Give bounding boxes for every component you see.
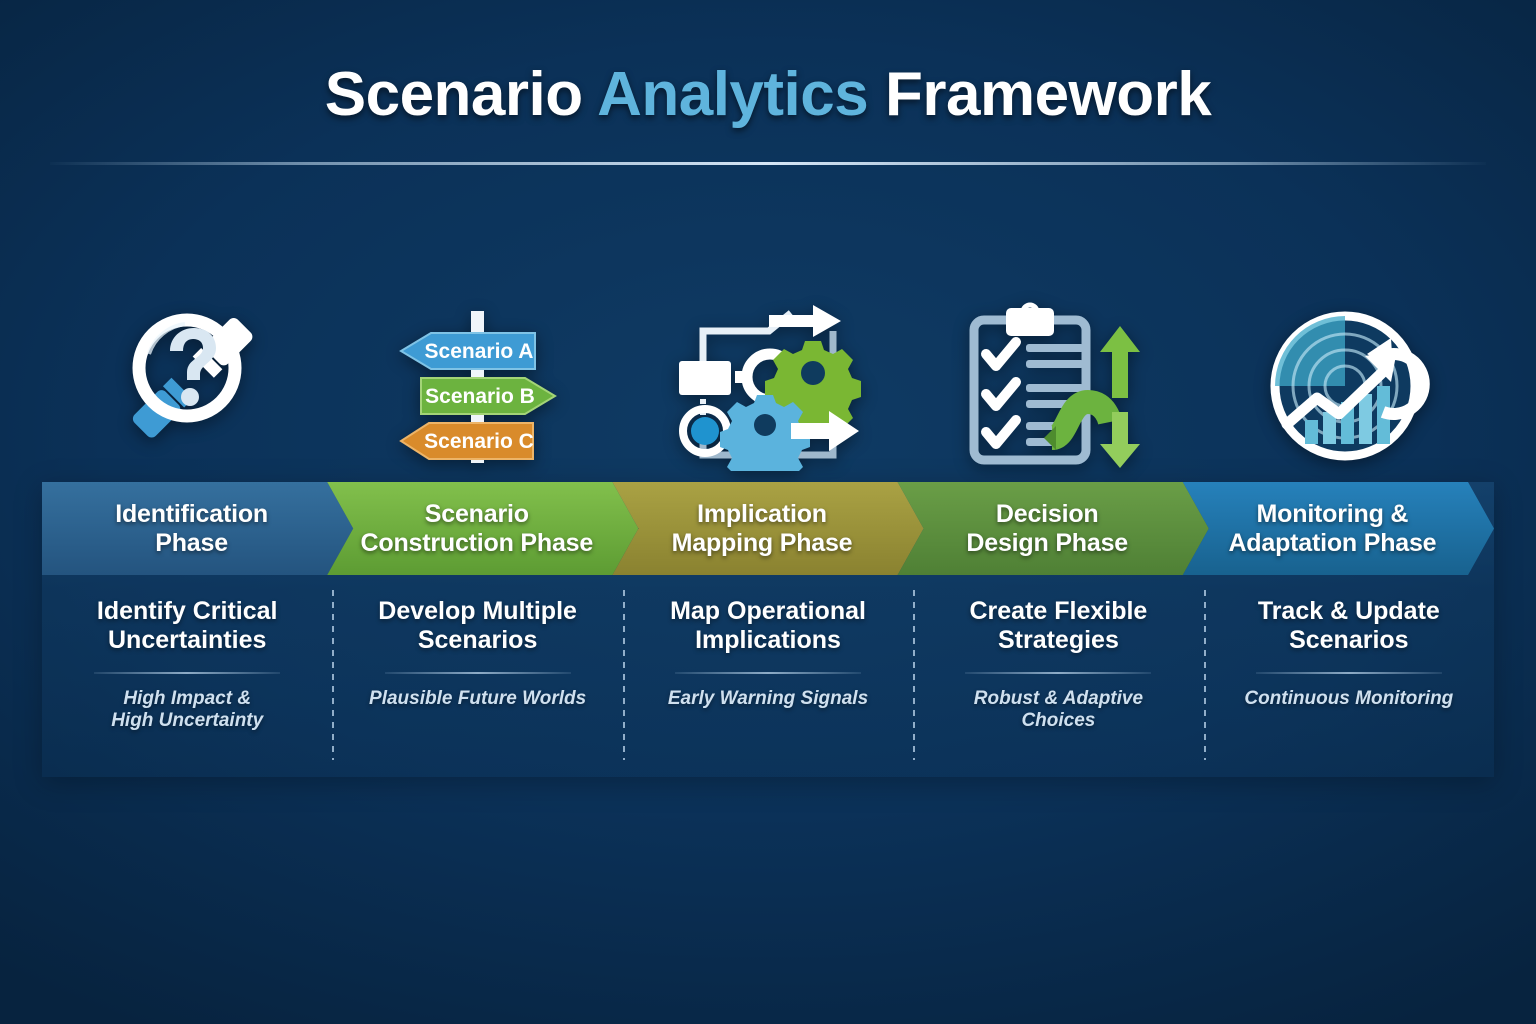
magnifier-question-icon xyxy=(101,304,273,475)
column-separator xyxy=(623,590,625,760)
phase-icon-identification xyxy=(42,300,332,478)
detail-heading: Map Operational Implications xyxy=(649,597,887,656)
detail-rule xyxy=(675,672,861,674)
column-separator xyxy=(1204,590,1206,760)
title-suffix: Framework xyxy=(868,60,1211,129)
detail-heading: Identify Critical Uncertainties xyxy=(68,597,306,656)
detail-subtext: Continuous Monitoring xyxy=(1230,688,1468,711)
detail-decision-design: Create Flexible Strategies Robust & Adap… xyxy=(913,575,1203,777)
detail-heading: Track & Update Scenarios xyxy=(1230,597,1468,656)
column-separator xyxy=(913,590,915,760)
chevron-label: Identification Phase xyxy=(115,500,268,558)
detail-subtext: High Impact & High Uncertainty xyxy=(68,688,306,734)
detail-identification: Identify Critical Uncertainties High Imp… xyxy=(42,575,332,777)
title-divider-rule xyxy=(50,162,1486,165)
title-area: Scenario Analytics Framework xyxy=(0,62,1536,127)
signpost-scenarios-icon: Scenario A Scenario B Scenario C xyxy=(383,301,573,478)
phase-icon-decision-design xyxy=(913,300,1203,478)
detail-heading: Develop Multiple Scenarios xyxy=(358,597,596,656)
phase-icon-scenario-construction: Scenario A Scenario B Scenario C xyxy=(332,300,622,478)
signpost-label-a: Scenario A xyxy=(424,340,533,363)
chevron-scenario-construction[interactable]: Scenario Construction Phase xyxy=(327,482,638,575)
detail-heading: Create Flexible Strategies xyxy=(939,597,1177,656)
chevron-label: Monitoring & Adaptation Phase xyxy=(1228,500,1436,558)
detail-subtext: Early Warning Signals xyxy=(649,688,887,711)
detail-subtext: Robust & Adaptive Choices xyxy=(939,688,1177,734)
column-separator xyxy=(332,590,334,760)
chevron-label: Decision Design Phase xyxy=(966,500,1128,558)
chevron-identification[interactable]: Identification Phase xyxy=(42,482,353,575)
detail-rule xyxy=(385,672,571,674)
chevron-monitoring-adaptation[interactable]: Monitoring & Adaptation Phase xyxy=(1183,482,1494,575)
chevron-label: Implication Mapping Phase xyxy=(672,500,853,558)
detail-rule xyxy=(965,672,1151,674)
signpost-label-c: Scenario C xyxy=(424,430,534,453)
radar-trend-refresh-icon xyxy=(1259,302,1439,477)
phase-icon-monitoring-adaptation xyxy=(1204,300,1494,478)
detail-implication-mapping: Map Operational Implications Early Warni… xyxy=(623,575,913,777)
chevron-implication-mapping[interactable]: Implication Mapping Phase xyxy=(612,482,923,575)
detail-rule xyxy=(94,672,280,674)
chevron-label: Scenario Construction Phase xyxy=(361,500,594,558)
signpost-label-b: Scenario B xyxy=(425,385,535,408)
title-prefix: Scenario xyxy=(325,60,597,129)
detail-subtext: Plausible Future Worlds xyxy=(358,688,596,711)
icon-row: Scenario A Scenario B Scenario C xyxy=(42,300,1494,478)
process-flow-gears-icon xyxy=(673,303,863,476)
detail-monitoring-adaptation: Track & Update Scenarios Continuous Moni… xyxy=(1204,575,1494,777)
detail-scenario-construction: Develop Multiple Scenarios Plausible Fut… xyxy=(332,575,622,777)
chevron-decision-design[interactable]: Decision Design Phase xyxy=(898,482,1209,575)
phase-icon-implication-mapping xyxy=(623,300,913,478)
page-title: Scenario Analytics Framework xyxy=(0,62,1536,127)
detail-rule xyxy=(1256,672,1442,674)
phase-chevron-band: Identification Phase Scenario Constructi… xyxy=(42,482,1494,575)
phase-detail-row: Identify Critical Uncertainties High Imp… xyxy=(42,575,1494,777)
title-accent: Analytics xyxy=(597,60,868,129)
clipboard-checklist-arrows-icon xyxy=(960,302,1156,477)
